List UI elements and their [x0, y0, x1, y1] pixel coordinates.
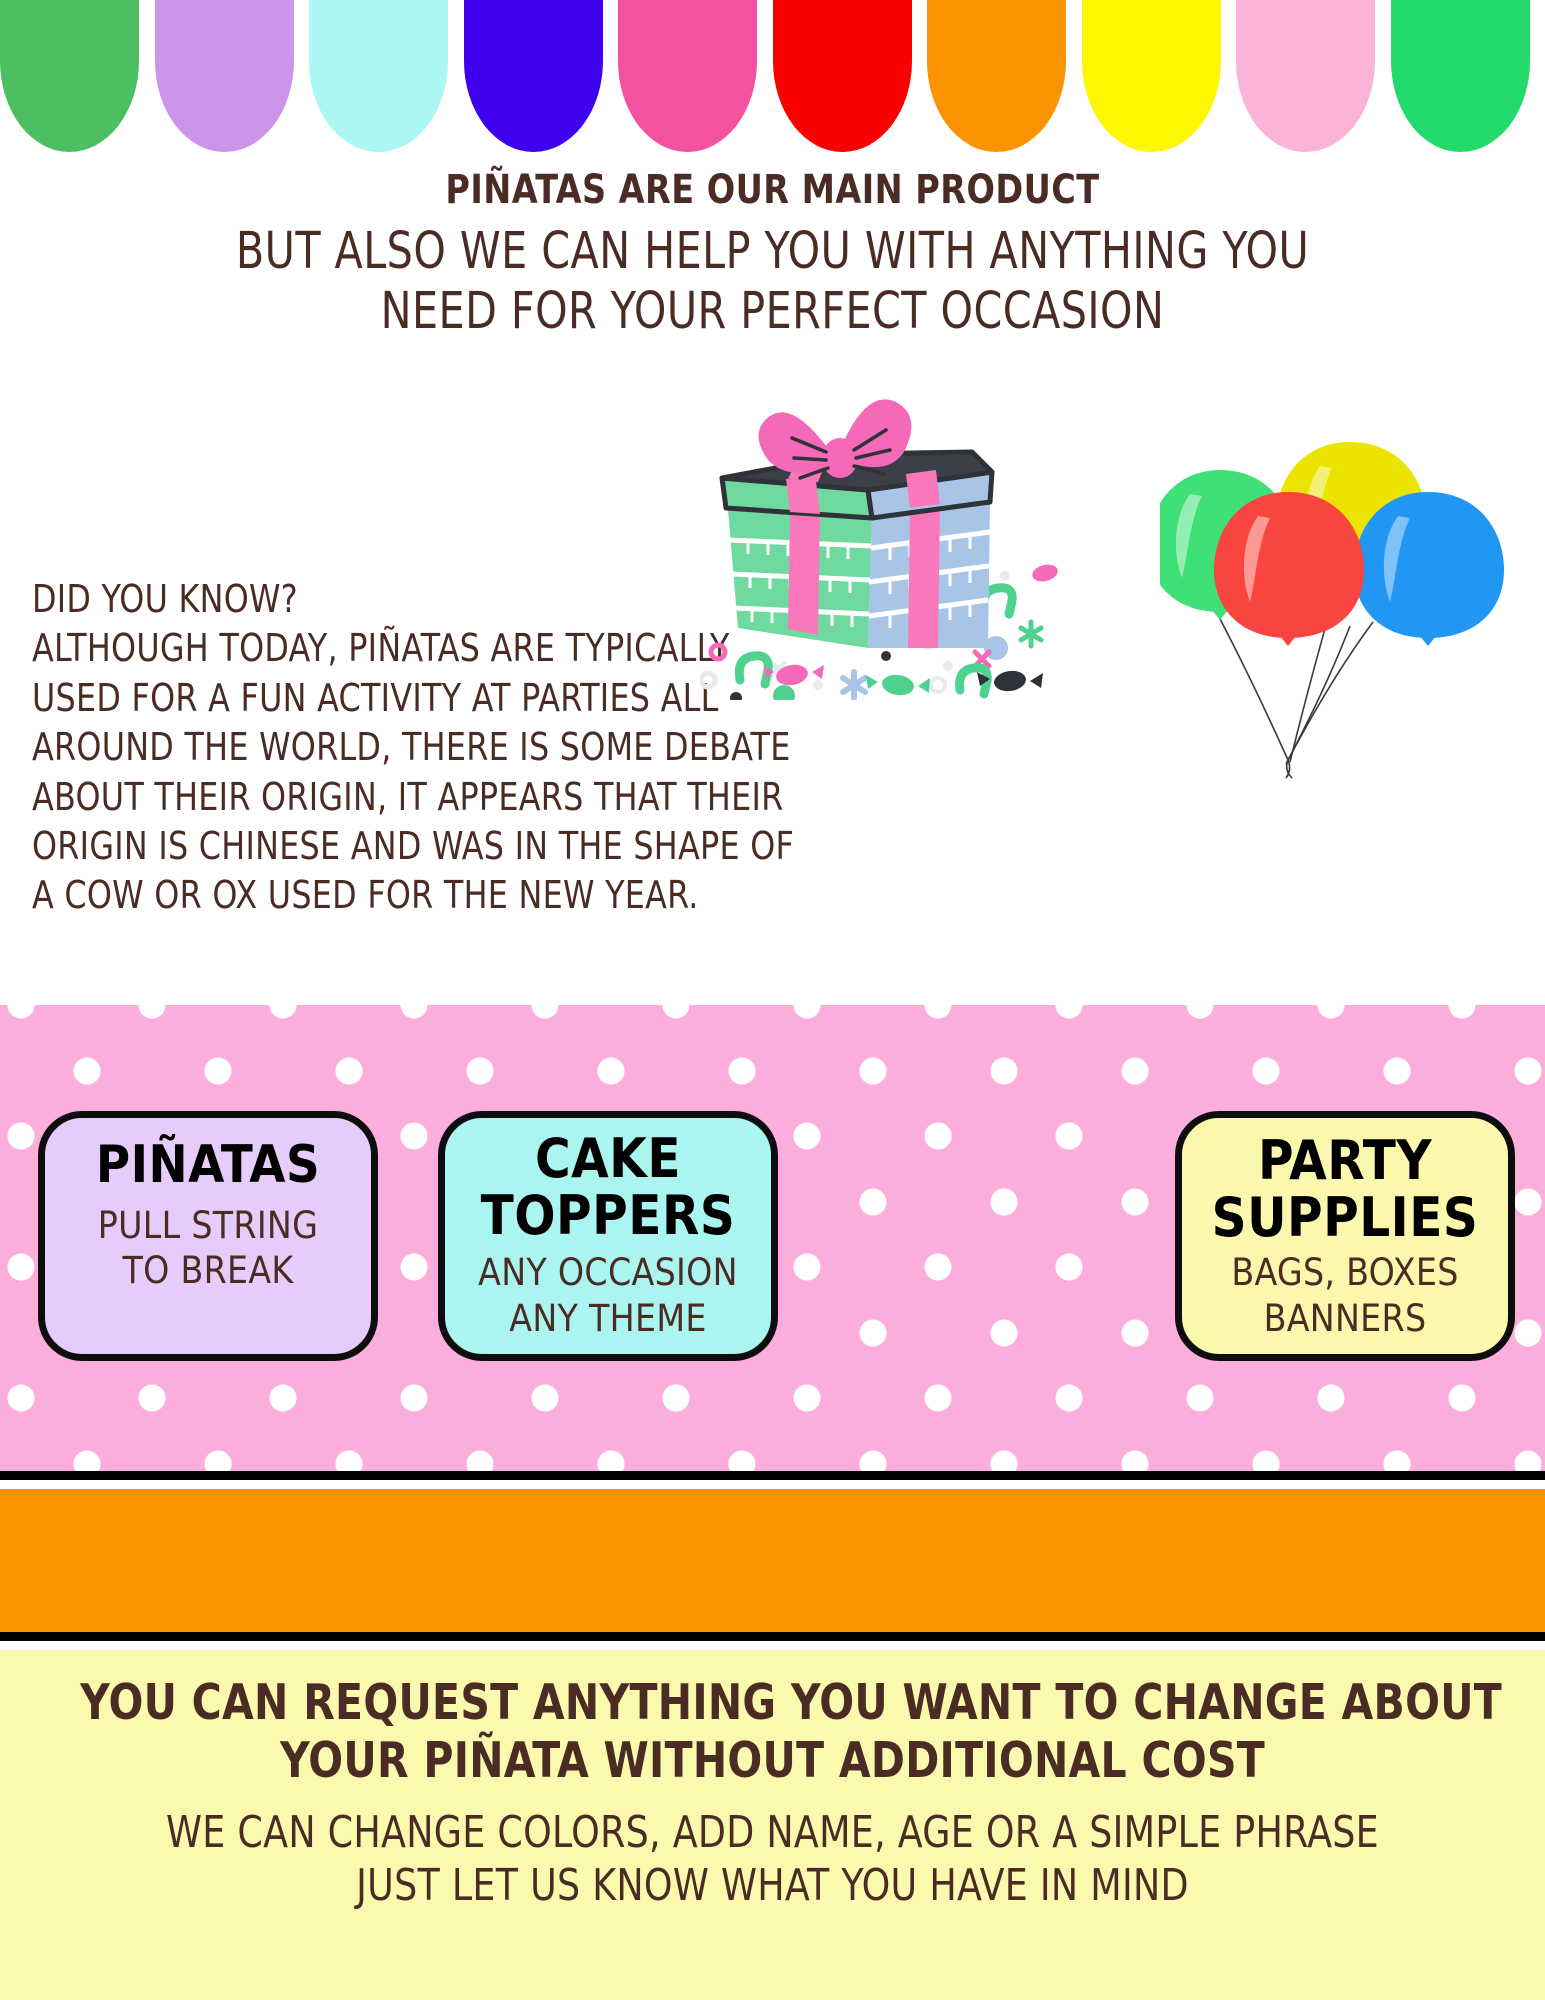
card-pinatas-sub-line-2: TO BREAK — [45, 1248, 371, 1293]
body-line: DID YOU KNOW? — [32, 575, 683, 624]
card-party-supplies-title-line-2: SUPPLIES — [1182, 1189, 1508, 1246]
scallop-9 — [1236, 0, 1375, 152]
card-pinatas-title: PIÑATAS — [45, 1124, 371, 1193]
subtitle-line-1: BUT ALSO WE CAN HELP YOU WITH ANYTHING Y… — [185, 222, 1360, 282]
poster-root: PIÑATAS ARE OUR MAIN PRODUCT BUT ALSO WE… — [0, 0, 1545, 2000]
did-you-know-paragraph: DID YOU KNOW? ALTHOUGH TODAY, PIÑATAS AR… — [32, 575, 683, 921]
scallop-10 — [1391, 0, 1530, 152]
header-block: PIÑATAS ARE OUR MAIN PRODUCT BUT ALSO WE… — [0, 152, 1545, 342]
card-party-supplies-title: PARTY SUPPLIES — [1182, 1124, 1508, 1246]
card-pinatas[interactable]: PIÑATAS PULL STRING TO BREAK — [38, 1111, 378, 1361]
footer-section: YOU CAN REQUEST ANYTHING YOU WANT TO CHA… — [0, 1650, 1545, 2000]
card-cake-toppers-subtitle: ANY OCCASION ANY THEME — [445, 1244, 771, 1340]
scallop-6 — [773, 0, 912, 152]
card-cake-toppers-sub-line-1: ANY OCCASION — [445, 1250, 771, 1295]
scallop-4 — [464, 0, 603, 152]
footer-subtext-line-1: WE CAN CHANGE COLORS, ADD NAME, AGE OR A… — [99, 1806, 1447, 1860]
card-party-supplies-title-line-1: PARTY — [1182, 1132, 1508, 1189]
scallop-banner — [0, 0, 1545, 152]
card-cake-toppers-title-line-2: TOPPERS — [445, 1187, 771, 1244]
footer-headline-line-2: YOUR PIÑATA WITHOUT ADDITIONAL COST — [80, 1732, 1465, 1790]
body-line: ORIGIN IS CHINESE AND WAS IN THE SHAPE O… — [32, 822, 683, 871]
card-cake-toppers-title: CAKE TOPPERS — [445, 1124, 771, 1244]
scallop-3 — [309, 0, 448, 152]
orange-divider-band — [0, 1489, 1545, 1641]
card-party-supplies[interactable]: PARTY SUPPLIES BAGS, BOXES BANNERS — [1175, 1111, 1515, 1361]
card-party-supplies-sub-line-1: BAGS, BOXES — [1182, 1250, 1508, 1295]
footer-headline: YOU CAN REQUEST ANYTHING YOU WANT TO CHA… — [54, 1674, 1491, 1790]
body-line: USED FOR A FUN ACTIVITY AT PARTIES ALL — [32, 674, 683, 723]
card-cake-toppers[interactable]: CAKE TOPPERS ANY OCCASION ANY THEME — [438, 1111, 778, 1361]
page-subtitle: BUT ALSO WE CAN HELP YOU WITH ANYTHING Y… — [77, 210, 1468, 342]
card-pinatas-subtitle: PULL STRING TO BREAK — [45, 1193, 371, 1293]
body-line: AROUND THE WORLD, THERE IS SOME DEBATE — [32, 723, 683, 772]
gift-box-pinata-icon — [700, 380, 1180, 700]
footer-subtext-line-2: JUST LET US KNOW WHAT YOU HAVE IN MIND — [99, 1859, 1447, 1913]
body-line: ABOUT THEIR ORIGIN, IT APPEARS THAT THEI… — [32, 773, 683, 822]
scallop-5 — [618, 0, 757, 152]
footer-subtext: WE CAN CHANGE COLORS, ADD NAME, AGE OR A… — [62, 1790, 1483, 1913]
card-cake-toppers-sub-line-2: ANY THEME — [445, 1296, 771, 1341]
card-cake-toppers-title-line-1: CAKE — [445, 1130, 771, 1187]
card-party-supplies-subtitle: BAGS, BOXES BANNERS — [1182, 1246, 1508, 1340]
card-pinatas-sub-line-1: PULL STRING — [45, 1203, 371, 1248]
scallop-8 — [1082, 0, 1221, 152]
body-line: ALTHOUGH TODAY, PIÑATAS ARE TYPICALLY — [32, 624, 683, 673]
product-cards-section: PIÑATAS PULL STRING TO BREAK CAKE TOPPER… — [0, 1005, 1545, 1480]
scallop-7 — [927, 0, 1066, 152]
scallop-2 — [155, 0, 294, 152]
balloon-bunch-icon — [1160, 430, 1510, 780]
scallop-1 — [0, 0, 139, 152]
page-title: PIÑATAS ARE OUR MAIN PRODUCT — [54, 152, 1491, 210]
footer-headline-line-1: YOU CAN REQUEST ANYTHING YOU WANT TO CHA… — [80, 1674, 1465, 1732]
body-line: A COW OR OX USED FOR THE NEW YEAR. — [32, 871, 683, 920]
subtitle-line-2: NEED FOR YOUR PERFECT OCCASION — [185, 282, 1360, 342]
card-party-supplies-sub-line-2: BANNERS — [1182, 1296, 1508, 1341]
